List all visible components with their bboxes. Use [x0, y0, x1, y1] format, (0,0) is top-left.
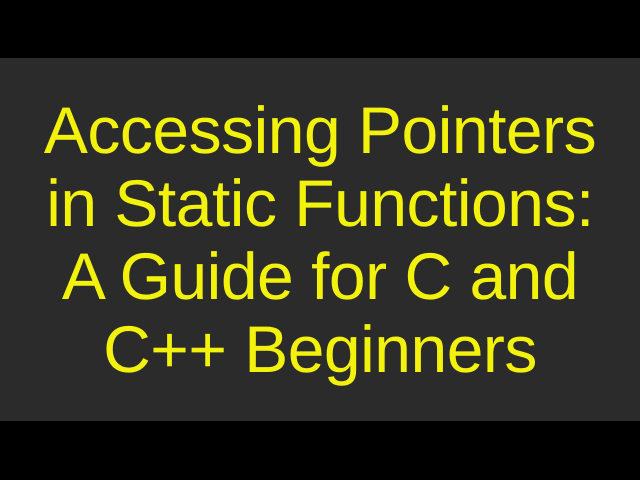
title-line-2: in Static Functions:	[0, 167, 640, 240]
title-line-4: C++ Beginners	[0, 313, 640, 386]
page-title: Accessing Pointers in Static Functions: …	[0, 94, 640, 386]
thumbnail-card: Accessing Pointers in Static Functions: …	[0, 0, 640, 480]
title-line-1: Accessing Pointers	[0, 94, 640, 167]
title-card-background: Accessing Pointers in Static Functions: …	[0, 58, 640, 421]
letterbox-bar-bottom	[0, 421, 640, 480]
letterbox-bar-top	[0, 0, 640, 58]
title-line-3: A Guide for C and	[0, 240, 640, 313]
